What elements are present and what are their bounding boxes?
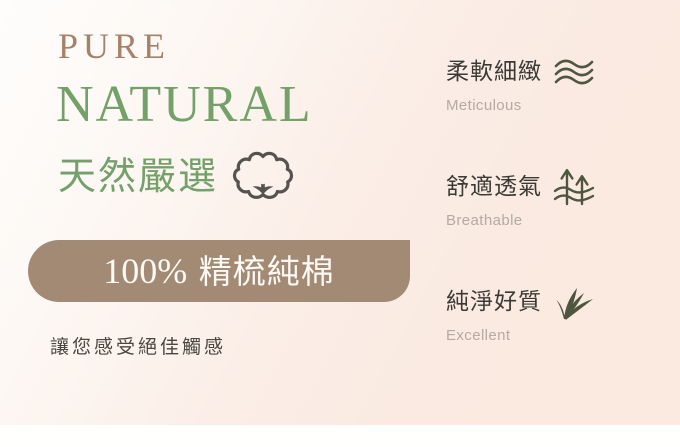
feature-item-excellent: 純淨好質 Excellent <box>446 282 680 374</box>
badge-label: 100% 精梳純棉 <box>103 252 335 291</box>
purity-badge: 100% 精梳純棉 <box>28 240 410 302</box>
headline-text: NATURAL <box>56 76 313 134</box>
waves-icon <box>552 52 596 92</box>
product-feature-banner: PURE NATURAL 天然嚴選 100% 精梳純棉 讓您感受絕佳觸感 <box>0 0 680 447</box>
badge-percent: 100% <box>103 251 187 291</box>
feature-header: 舒適透氣 <box>446 167 680 207</box>
banner-bottom-band <box>0 425 680 447</box>
feature-subtitle: Breathable <box>446 211 680 231</box>
leaf-blades-icon <box>552 282 596 322</box>
kicker-text: PURE <box>58 26 170 66</box>
feature-header: 柔軟細緻 <box>446 52 680 92</box>
feature-item-breathable: 舒適透氣 Breathable <box>446 167 680 259</box>
subhead-row: 天然嚴選 <box>58 150 294 202</box>
tagline-text: 讓您感受絕佳觸感 <box>50 334 226 360</box>
feature-item-meticulous: 柔軟細緻 Meticulous <box>446 52 680 144</box>
feature-subtitle: Excellent <box>446 326 680 346</box>
feature-list: 柔軟細緻 Meticulous 舒適透氣 <box>446 0 680 425</box>
feature-title: 純淨好質 <box>446 287 542 317</box>
subhead-text: 天然嚴選 <box>58 153 218 199</box>
badge-material: 精梳純棉 <box>199 252 335 291</box>
cotton-boll-icon <box>232 150 294 202</box>
feature-title: 柔軟細緻 <box>446 57 542 87</box>
headline-column: PURE NATURAL 天然嚴選 100% 精梳純棉 讓您感受絕佳觸感 <box>0 0 424 425</box>
feature-subtitle: Meticulous <box>446 96 680 116</box>
feature-title: 舒適透氣 <box>446 172 542 202</box>
feature-header: 純淨好質 <box>446 282 680 322</box>
airflow-arrows-icon <box>552 167 596 207</box>
